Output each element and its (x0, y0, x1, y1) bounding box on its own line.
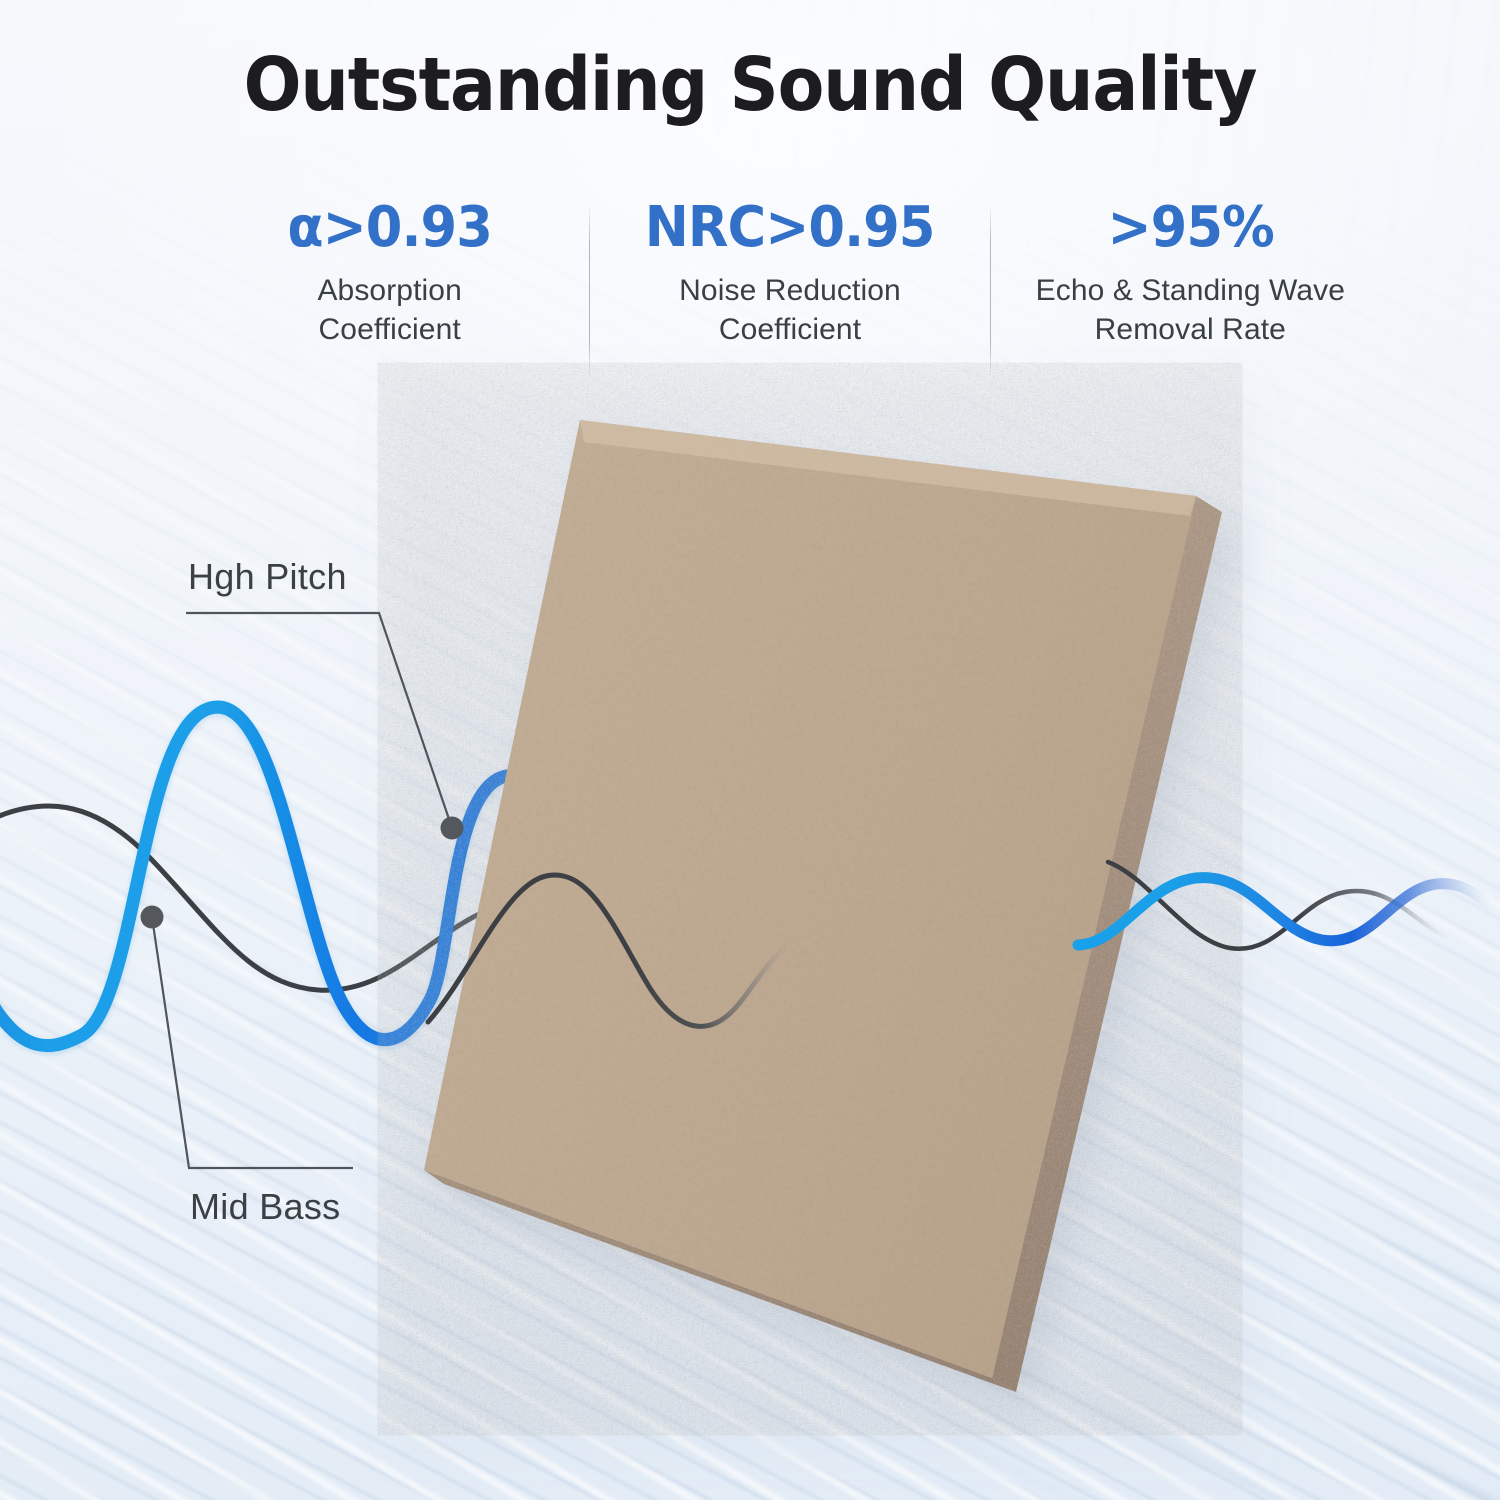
panel-face-grain (424, 420, 1196, 1378)
callout-label-mid-bass: Mid Bass (190, 1186, 340, 1228)
wave-high-pitch-outgoing (1078, 878, 1492, 945)
infographic-stage: Outstanding Sound Quality α>0.93 Absorpt… (0, 0, 1500, 1500)
callout-label-high-pitch: Hgh Pitch (188, 556, 347, 598)
acoustic-panel (424, 420, 1222, 1392)
wave-group-outgoing (1078, 862, 1492, 949)
callout-dot-high-pitch (441, 817, 464, 840)
callout-dot-mid-bass (141, 906, 164, 929)
callout-line-high-pitch (186, 613, 452, 828)
acoustic-scene (0, 0, 1500, 1500)
